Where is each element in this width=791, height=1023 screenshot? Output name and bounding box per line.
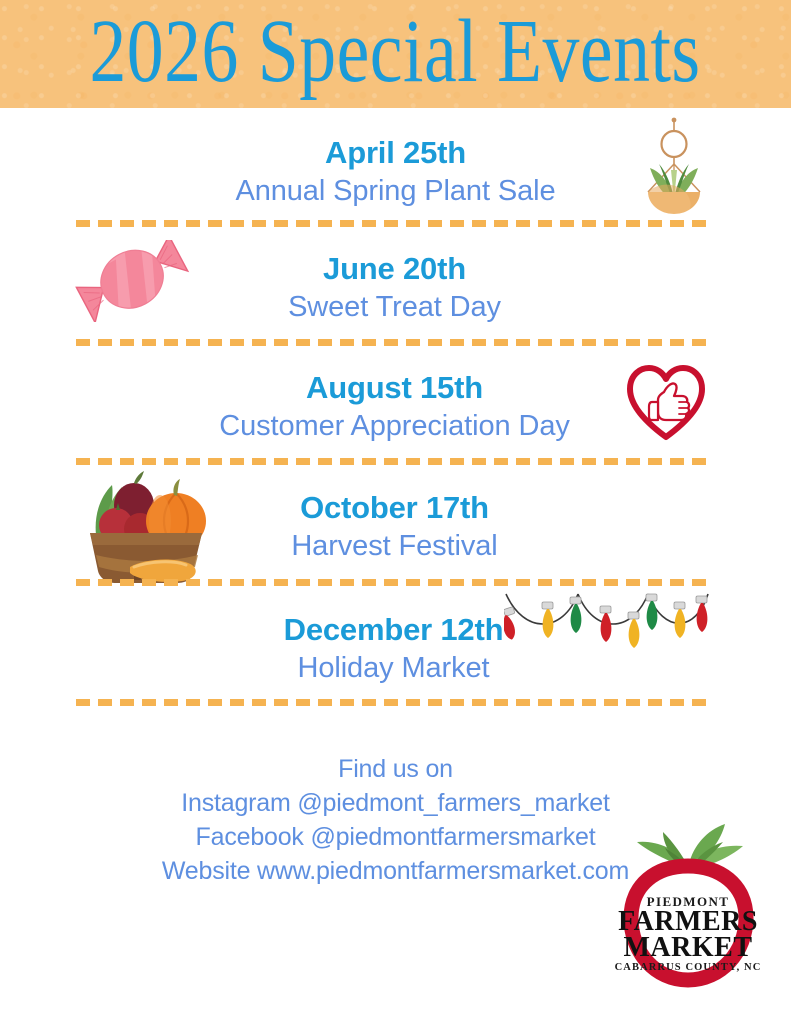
event-row: October 17th Harvest Festival [0,465,791,587]
event-divider [76,339,712,346]
header-banner: 2026 Special Events [0,0,791,108]
string-lights-icon [504,588,712,671]
logo-line-market: MARKET [624,932,753,963]
footer-line-instagram[interactable]: Instagram @piedmont_farmers_market [0,786,791,820]
flyer-page: 2026 Special Events April 25th Annual Sp… [0,0,791,1023]
event-divider [76,579,712,586]
page-title: 2026 Special Events [90,7,701,101]
event-divider [76,699,712,706]
piedmont-farmers-market-logo: PIEDMONT FARMERS MARKET CABARRUS COUNTY,… [597,818,780,990]
wrapped-candy-icon [74,240,192,327]
event-row: June 20th Sweet Treat Day [0,227,791,346]
event-row: December 12th Holiday Market [0,587,791,706]
hanging-plant-icon [628,114,720,231]
event-row: August 15th Customer Appreciation Day [0,346,791,465]
heart-thumbs-up-icon [624,362,708,449]
harvest-basket-icon [72,463,212,588]
events-list: April 25th Annual Spring Plant Sale [0,108,791,706]
event-row: April 25th Annual Spring Plant Sale [0,108,791,227]
logo-line-county: CABARRUS COUNTY, NC [615,962,762,973]
event-divider [76,220,712,227]
footer-line-find-us: Find us on [0,752,791,786]
